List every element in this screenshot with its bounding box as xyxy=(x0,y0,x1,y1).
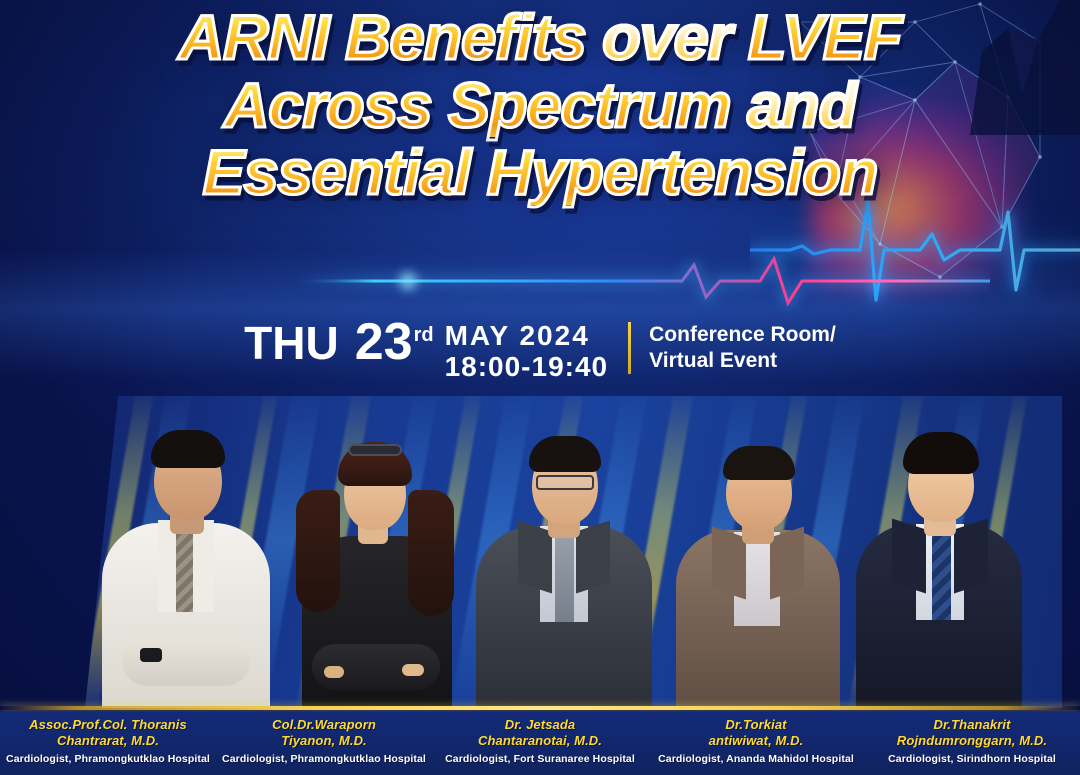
speaker-4-affiliation: Cardiologist, Ananda Mahidol Hospital xyxy=(648,753,864,765)
title-line-1: ARNI Benefits over LVEF xyxy=(0,8,1080,70)
venue-line-2: Virtual Event xyxy=(649,348,836,374)
speaker-photo-5 xyxy=(852,408,1028,708)
event-venue: Conference Room/ Virtual Event xyxy=(649,316,836,373)
speaker-5-name-line2: Rojndumronggarn, M.D. xyxy=(897,733,1047,748)
eyeglasses-icon xyxy=(536,475,594,490)
speaker-4-name: Dr.Torkiat antiwiwat, M.D. xyxy=(648,717,864,750)
wristwatch xyxy=(140,648,162,662)
speaker-1-name: Assoc.Prof.Col. Thoranis Chantrarat, M.D… xyxy=(0,717,216,750)
event-meta: THU 23rd MAY 2024 18:00-19:40 Conference… xyxy=(0,316,1080,383)
event-weekday: THU xyxy=(244,316,339,366)
speaker-photo-4 xyxy=(670,408,846,708)
speaker-2-affiliation: Cardiologist, Phramongkutklao Hospital xyxy=(216,753,432,765)
speaker-4-name-line2: antiwiwat, M.D. xyxy=(709,733,804,748)
speaker-2-name-line2: Tiyanon, M.D. xyxy=(281,733,367,748)
speaker-1-name-line2: Chantrarat, M.D. xyxy=(57,733,159,748)
speaker-1-name-line1: Assoc.Prof.Col. Thoranis xyxy=(29,717,187,732)
event-month-year: MAY 2024 xyxy=(445,320,609,351)
speaker-5-affiliation: Cardiologist, Sirindhorn Hospital xyxy=(864,753,1080,765)
speaker-3-affiliation: Cardiologist, Fort Suranaree Hospital xyxy=(432,753,648,765)
poster-title: ARNI Benefits over LVEF Across Spectrum … xyxy=(0,8,1080,205)
title-seg-lvef: LVEF xyxy=(748,3,902,73)
gold-divider-rule xyxy=(0,706,1080,710)
speaker-name-block-3: Dr. Jetsada Chantaranotai, M.D. Cardiolo… xyxy=(432,712,648,775)
speaker-photo-1 xyxy=(96,408,276,708)
title-seg-across-spectrum: Across Spectrum xyxy=(224,71,747,141)
speaker-3-name-line2: Chantaranotai, M.D. xyxy=(478,733,602,748)
speaker-5-name-line1: Dr.Thanakrit xyxy=(933,717,1010,732)
title-seg-over: over xyxy=(602,3,748,73)
speaker-names-row: Assoc.Prof.Col. Thoranis Chantrarat, M.D… xyxy=(0,712,1080,775)
title-line-2: Across Spectrum and xyxy=(0,76,1080,138)
day-number-value: 23 xyxy=(355,313,413,371)
speaker-3-name: Dr. Jetsada Chantaranotai, M.D. xyxy=(432,717,648,750)
speaker-name-block-1: Assoc.Prof.Col. Thoranis Chantrarat, M.D… xyxy=(0,712,216,775)
speaker-photo-3 xyxy=(472,408,656,708)
conference-poster: ARNI Benefits over LVEF Across Spectrum … xyxy=(0,0,1080,775)
speaker-name-block-5: Dr.Thanakrit Rojndumronggarn, M.D. Cardi… xyxy=(864,712,1080,775)
speaker-2-name: Col.Dr.Waraporn Tiyanon, M.D. xyxy=(216,717,432,750)
speaker-5-name: Dr.Thanakrit Rojndumronggarn, M.D. xyxy=(864,717,1080,750)
day-ordinal-suffix: rd xyxy=(414,324,434,346)
vertical-gold-divider xyxy=(628,322,631,374)
ecg-waveform-horizontal xyxy=(290,255,990,315)
event-time-range: 18:00-19:40 xyxy=(445,351,609,382)
title-seg-arni-benefits: ARNI Benefits xyxy=(179,3,603,73)
speaker-name-block-4: Dr.Torkiat antiwiwat, M.D. Cardiologist,… xyxy=(648,712,864,775)
speaker-3-name-line1: Dr. Jetsada xyxy=(505,717,575,732)
title-seg-and: and xyxy=(747,71,856,141)
venue-line-1: Conference Room/ xyxy=(649,322,836,348)
title-line-3: Essential Hypertension xyxy=(0,143,1080,205)
speaker-photo-band xyxy=(0,396,1080,708)
speaker-photo-2 xyxy=(290,408,460,708)
speaker-4-name-line1: Dr.Torkiat xyxy=(725,717,786,732)
speaker-name-block-2: Col.Dr.Waraporn Tiyanon, M.D. Cardiologi… xyxy=(216,712,432,775)
speaker-1-affiliation: Cardiologist, Phramongkutklao Hospital xyxy=(0,753,216,765)
title-seg-essential-hypertension: Essential Hypertension xyxy=(203,138,878,208)
sunglasses-icon xyxy=(348,444,402,456)
event-date-time: MAY 2024 18:00-19:40 xyxy=(445,316,609,383)
speaker-2-name-line1: Col.Dr.Waraporn xyxy=(272,717,376,732)
event-day-number: 23rd xyxy=(355,316,434,368)
